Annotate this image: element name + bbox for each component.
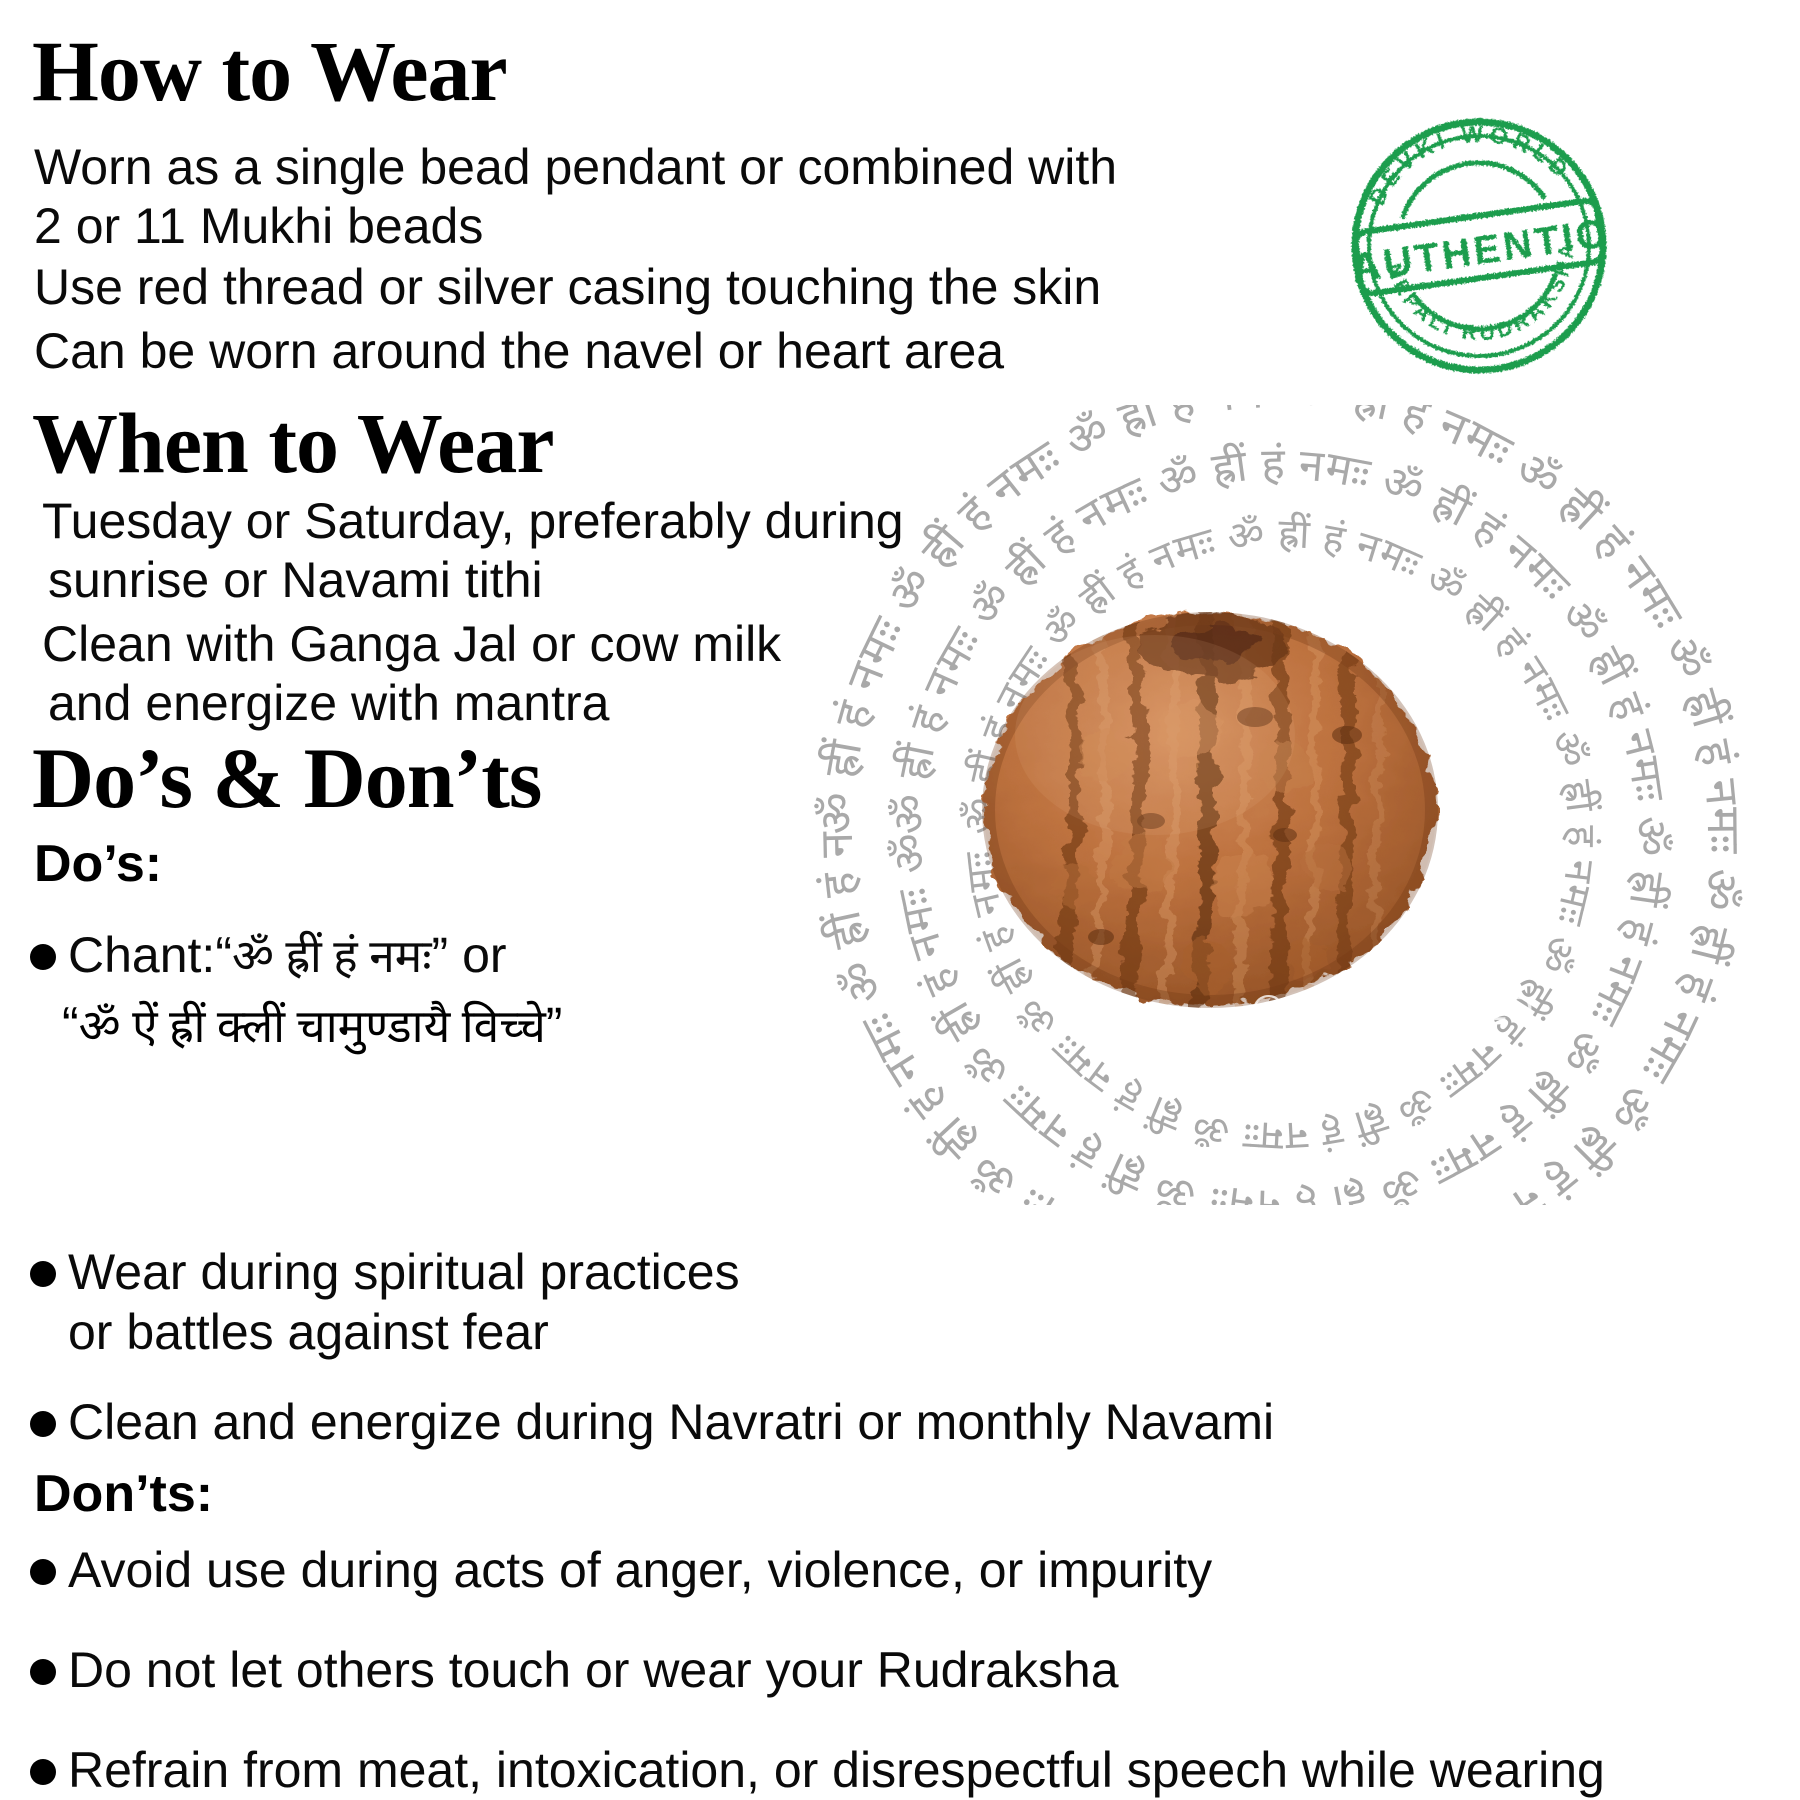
donts-item-2: Do not let others touch or wear your Rud… <box>30 1640 1380 1700</box>
donts-item-3-text: Refrain from meat, intoxication, or disr… <box>68 1740 1605 1800</box>
bullet-dot-icon <box>30 1659 56 1685</box>
how-to-wear-item-3: Can be worn around the navel or heart ar… <box>34 322 1184 381</box>
donts-label: Don’ts: <box>34 1468 213 1520</box>
donts-item-2-text: Do not let others touch or wear your Rud… <box>68 1640 1119 1700</box>
section-heading-how-to-wear: How to Wear <box>32 28 507 114</box>
dos-item-chant: Chant:“ॐ ह्रीं हं नमः” or <box>30 925 730 985</box>
section-heading-dos-and-donts: Do’s & Don’ts <box>32 735 541 821</box>
bullet-dot-icon <box>30 1759 56 1785</box>
dos-label: Do’s: <box>34 838 162 890</box>
chant-prefix: Chant: <box>68 927 215 983</box>
donts-item-1-text: Avoid use during acts of anger, violence… <box>68 1540 1212 1600</box>
chant-quote-open: “ <box>215 927 232 983</box>
dos-item-3: Clean and energize during Navratri or mo… <box>30 1392 1330 1452</box>
chant-mantra-2: ॐ ऐं ह्रीं क्लीं चामुण्डायै विच्चे <box>79 1001 546 1052</box>
dos-item-2: Wear during spiritual practices or battl… <box>30 1242 770 1362</box>
dos-item-chant-line-2: “ॐ ऐं ह्रीं क्लीं चामुण्डायै विच्चे” <box>62 995 822 1055</box>
dos-item-2-text: Wear during spiritual practices or battl… <box>68 1242 770 1362</box>
chant-quote-close-2: ” <box>546 997 563 1053</box>
bullet-dot-icon <box>30 944 56 970</box>
dos-item-3-text: Clean and energize during Navratri or mo… <box>68 1392 1274 1452</box>
chant-suffix: or <box>462 927 506 983</box>
donts-item-3: Refrain from meat, intoxication, or disr… <box>30 1740 1800 1800</box>
how-to-wear-item-1: Worn as a single bead pendant or combine… <box>34 138 1154 256</box>
bullet-dot-icon <box>30 1559 56 1585</box>
when-to-wear-item-1: Tuesday or Saturday, preferably during s… <box>48 492 928 610</box>
authenticity-stamp: DEVKI WORLD NEPALI RUDRAKSHA AUTHENTIC <box>1345 112 1613 380</box>
section-heading-when-to-wear: When to Wear <box>32 400 554 486</box>
chant-quote-open-2: “ <box>62 997 79 1053</box>
chant-quote-close: ” <box>432 927 449 983</box>
how-to-wear-item-2: Use red thread or silver casing touching… <box>34 258 1184 317</box>
donts-item-1: Avoid use during acts of anger, violence… <box>30 1540 1380 1600</box>
bullet-dot-icon <box>30 1411 56 1437</box>
when-to-wear-item-2: Clean with Ganga Jal or cow milk and ene… <box>48 615 868 733</box>
chant-mantra-1: ॐ ह्रीं हं नमः <box>232 931 432 982</box>
bullet-dot-icon <box>30 1261 56 1287</box>
